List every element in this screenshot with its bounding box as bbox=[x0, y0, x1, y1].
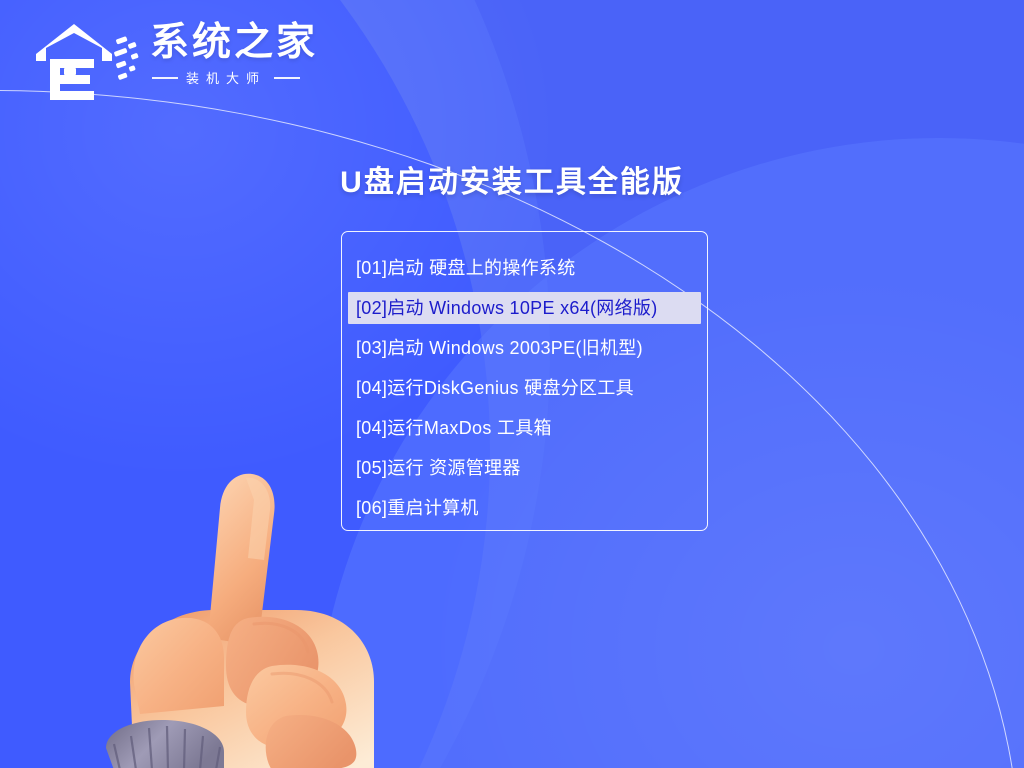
boot-menu-item[interactable]: [03]启动 Windows 2003PE(旧机型) bbox=[348, 332, 701, 364]
brand-logo: 系统之家 装机大师 bbox=[30, 14, 318, 100]
dash-left-icon bbox=[152, 77, 178, 79]
boot-menu-item[interactable]: [04]运行DiskGenius 硬盘分区工具 bbox=[348, 372, 701, 404]
brand-subtitle-row: 装机大师 bbox=[150, 68, 318, 87]
brand-subtitle: 装机大师 bbox=[186, 68, 266, 87]
pointing-hand-illustration bbox=[96, 470, 416, 768]
brand-name: 系统之家 bbox=[150, 21, 318, 64]
boot-menu-item[interactable]: [02]启动 Windows 10PE x64(网络版) bbox=[348, 292, 701, 324]
dash-right-icon bbox=[274, 77, 300, 79]
boot-menu-item[interactable]: [04]运行MaxDos 工具箱 bbox=[348, 412, 701, 444]
boot-menu-item[interactable]: [01]启动 硬盘上的操作系统 bbox=[348, 252, 701, 284]
house-pixel-logo-icon bbox=[30, 14, 142, 100]
brand-logo-text: 系统之家 装机大师 bbox=[150, 23, 318, 92]
boot-menu-screen: 系统之家 装机大师 U盘启动安装工具全能版 [01]启动 硬盘上的操作系统[02… bbox=[0, 0, 1024, 768]
page-title: U盘启动安装工具全能版 bbox=[0, 157, 1024, 201]
